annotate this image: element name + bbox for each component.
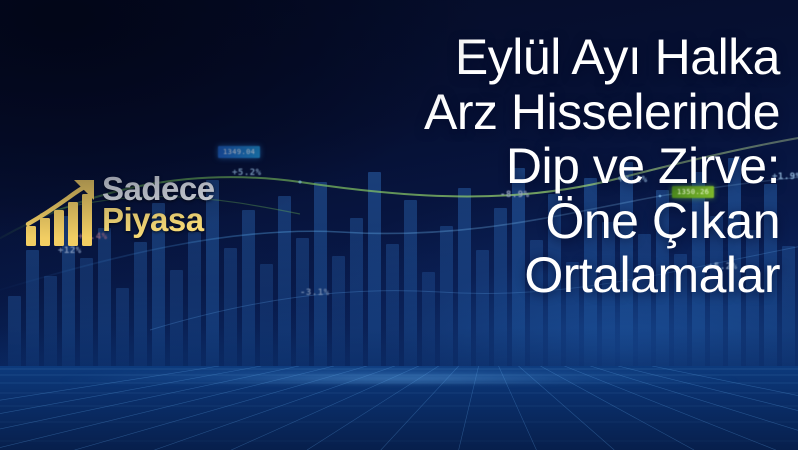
vignette-overlay	[0, 0, 798, 450]
promo-banner: 1349.041350.26+5.2%+7.1%+1.9%+5.2%-8.9%+…	[0, 0, 798, 450]
